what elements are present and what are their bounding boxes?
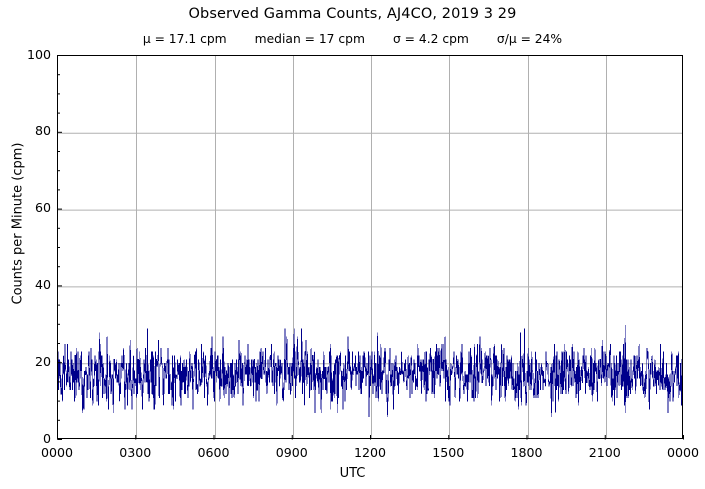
- x-tick-label: 0600: [179, 447, 249, 460]
- x-tick-label: 1500: [413, 447, 483, 460]
- x-tick-label: 0300: [100, 447, 170, 460]
- x-axis-ticks: 000003000600090012001500180021000000: [0, 0, 705, 489]
- y-axis-label: Counts per Minute (cpm): [11, 114, 26, 334]
- x-tick-label: 1800: [492, 447, 562, 460]
- x-tick-label: 0000: [648, 447, 705, 460]
- x-tick-label: 0900: [257, 447, 327, 460]
- x-tick-label: 1200: [335, 447, 405, 460]
- x-tick-label: 2100: [570, 447, 640, 460]
- x-tick-label: 0000: [22, 447, 92, 460]
- x-axis-label: UTC: [0, 466, 705, 481]
